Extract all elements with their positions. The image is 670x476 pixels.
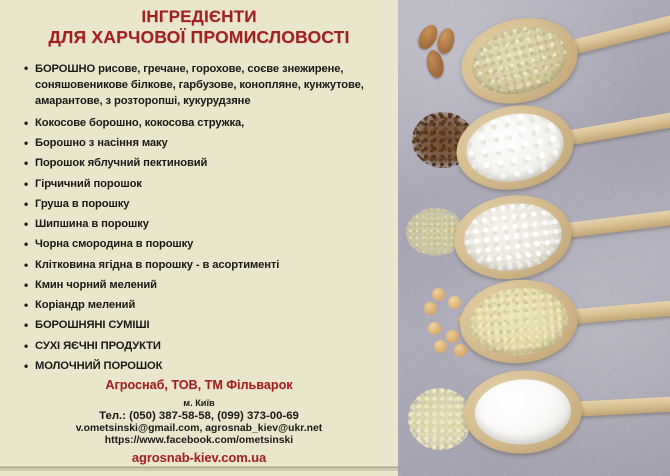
list-item: Кмин чорний мелений bbox=[24, 278, 388, 294]
text-panel: ІНГРЕДІЄНТИ ДЛЯ ХАРЧОВОЇ ПРОМИСЛОВОСТІ Б… bbox=[0, 0, 398, 476]
list-item: Порошок яблучний пектиновий bbox=[24, 156, 388, 172]
list-item: Гірчичний порошок bbox=[24, 177, 388, 193]
spoon-corn-flour bbox=[456, 267, 670, 375]
product-photo bbox=[398, 0, 670, 476]
list-item: Коріандр мелений bbox=[24, 298, 388, 314]
spoon-handle bbox=[558, 111, 670, 147]
list-item: Клітковина ягідна в порошку - в асортиме… bbox=[24, 258, 388, 274]
text-panel-inner: ІНГРЕДІЄНТИ ДЛЯ ХАРЧОВОЇ ПРОМИСЛОВОСТІ Б… bbox=[0, 0, 398, 471]
poster-root: ІНГРЕДІЄНТИ ДЛЯ ХАРЧОВОЇ ПРОМИСЛОВОСТІ Б… bbox=[0, 0, 670, 476]
email-addresses[interactable]: v.ometsinski@gmail.com, agrosnab_kiev@uk… bbox=[6, 423, 392, 434]
title-line-1: ІНГРЕДІЄНТИ bbox=[6, 7, 392, 27]
chickpea-seed bbox=[440, 310, 453, 323]
page-title: ІНГРЕДІЄНТИ ДЛЯ ХАРЧОВОЇ ПРОМИСЛОВОСТІ bbox=[0, 0, 398, 48]
spoon-handle bbox=[563, 299, 670, 325]
divider-line bbox=[0, 467, 398, 468]
list-item: БОРОШНЯНІ СУМІШІ bbox=[24, 318, 388, 334]
contact-block: Агроснаб, ТОВ, ТМ Фільварок м. Київ Тел.… bbox=[0, 378, 398, 465]
company-name: Агроснаб, ТОВ, ТМ Фільварок bbox=[6, 378, 392, 392]
list-item: Груша в порошку bbox=[24, 197, 388, 213]
chickpea-seed bbox=[432, 288, 445, 301]
list-item: БОРОШНО рисове, гречане, горохове, соєве… bbox=[24, 61, 388, 110]
chickpea-seed bbox=[434, 340, 447, 353]
bottom-divider bbox=[0, 466, 398, 471]
chickpea-seed bbox=[428, 322, 441, 335]
list-item: Чорна смородина в порошку bbox=[24, 237, 388, 253]
website-link[interactable]: agrosnab-kiev.com.ua bbox=[6, 450, 392, 465]
facebook-link[interactable]: https://www.facebook.com/ometsinski bbox=[6, 435, 392, 446]
list-item: Шипшина в порошку bbox=[24, 217, 388, 233]
chickpea-seed bbox=[446, 330, 459, 343]
company-city: м. Київ bbox=[6, 398, 392, 408]
ingredient-list: БОРОШНО рисове, гречане, горохове, соєве… bbox=[0, 48, 398, 375]
list-item: Борошно з насіння маку bbox=[24, 136, 388, 152]
title-line-2: ДЛЯ ХАРЧОВОЇ ПРОМИСЛОВОСТІ bbox=[6, 27, 392, 48]
list-item: Кокосове борошно, кокосова стружка, bbox=[24, 116, 388, 132]
phone-numbers[interactable]: Тел.: (050) 387-58-58, (099) 373-00-69 bbox=[6, 410, 392, 422]
spoon-starch bbox=[462, 363, 670, 464]
chickpea-seed bbox=[424, 302, 437, 315]
spoon-handle bbox=[567, 396, 670, 417]
spoon-handle bbox=[557, 209, 670, 239]
list-item: СУХІ ЯЄЧНІ ПРОДУКТИ bbox=[24, 339, 388, 355]
list-item: МОЛОЧНИЙ ПОРОШОК bbox=[24, 359, 388, 375]
